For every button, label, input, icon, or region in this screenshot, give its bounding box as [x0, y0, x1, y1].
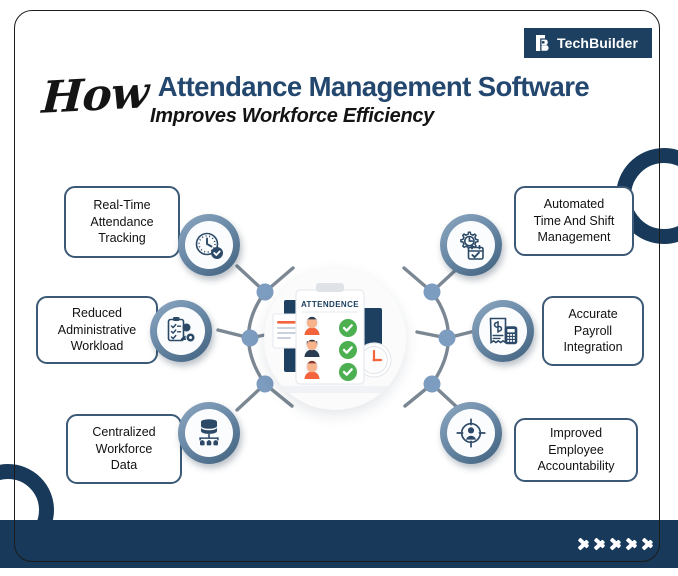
- benefit-icon-clipboard-user-gear[interactable]: [150, 300, 212, 362]
- center-attendance-illustration: ATTENDENCE: [264, 268, 406, 410]
- benefit-card-improved-employee-accountability[interactable]: Improved Employee Accountability: [514, 418, 638, 482]
- benefit-label: Improved Employee Accountability: [537, 425, 614, 476]
- database-network-icon: [185, 409, 233, 457]
- chevron-right-icon: [593, 531, 608, 557]
- header-title-block: How Attendance Management Software Impro…: [42, 62, 589, 128]
- benefit-icon-clock-check[interactable]: [178, 214, 240, 276]
- footer-bar: [0, 520, 678, 568]
- chevron-right-icon: [577, 531, 592, 557]
- center-attendance-label: ATTENDENCE: [301, 300, 359, 309]
- benefit-label: Real-Time Attendance Tracking: [90, 197, 153, 248]
- clipboard-user-gear-icon: [157, 307, 205, 355]
- benefit-card-centralized-workforce-data[interactable]: Centralized Workforce Data: [66, 414, 182, 484]
- clock-check-icon: [185, 221, 233, 269]
- benefit-icon-gear-clock-calendar[interactable]: [440, 214, 502, 276]
- brand-logo-text: TechBuilder: [557, 35, 638, 51]
- benefit-icon-database-network[interactable]: [178, 402, 240, 464]
- benefit-card-reduced-administrative-workload[interactable]: Reduced Administrative Workload: [36, 296, 158, 364]
- footer-chevrons: [577, 531, 656, 557]
- chevron-right-icon: [641, 531, 656, 557]
- techbuilder-b-mark-icon: [536, 35, 551, 51]
- benefit-card-real-time-attendance-tracking[interactable]: Real-Time Attendance Tracking: [64, 186, 180, 258]
- benefit-label: Accurate Payroll Integration: [563, 306, 622, 357]
- benefit-card-automated-time-and-shift-management[interactable]: Automated Time And Shift Management: [514, 186, 634, 256]
- gear-clock-calendar-icon: [447, 221, 495, 269]
- target-person-icon: [447, 409, 495, 457]
- brand-logo: TechBuilder: [524, 28, 652, 58]
- infographic-canvas: TechBuilder How Attendance Management So…: [0, 0, 678, 576]
- benefit-card-accurate-payroll-integration[interactable]: Accurate Payroll Integration: [542, 296, 644, 366]
- header-how-word: How: [41, 73, 149, 118]
- benefit-label: Centralized Workforce Data: [92, 424, 155, 475]
- chevron-right-icon: [625, 531, 640, 557]
- attendance-clipboard-illustration: ATTENDENCE: [264, 268, 406, 410]
- benefit-icon-invoice-calculator[interactable]: [472, 300, 534, 362]
- page-subtitle: Improves Workforce Efficiency: [150, 105, 589, 128]
- benefit-icon-target-person[interactable]: [440, 402, 502, 464]
- benefit-label: Reduced Administrative Workload: [58, 305, 137, 356]
- chevron-right-icon: [609, 531, 624, 557]
- invoice-calculator-icon: [479, 307, 527, 355]
- benefit-label: Automated Time And Shift Management: [534, 196, 615, 247]
- page-title: Attendance Management Software: [158, 73, 589, 102]
